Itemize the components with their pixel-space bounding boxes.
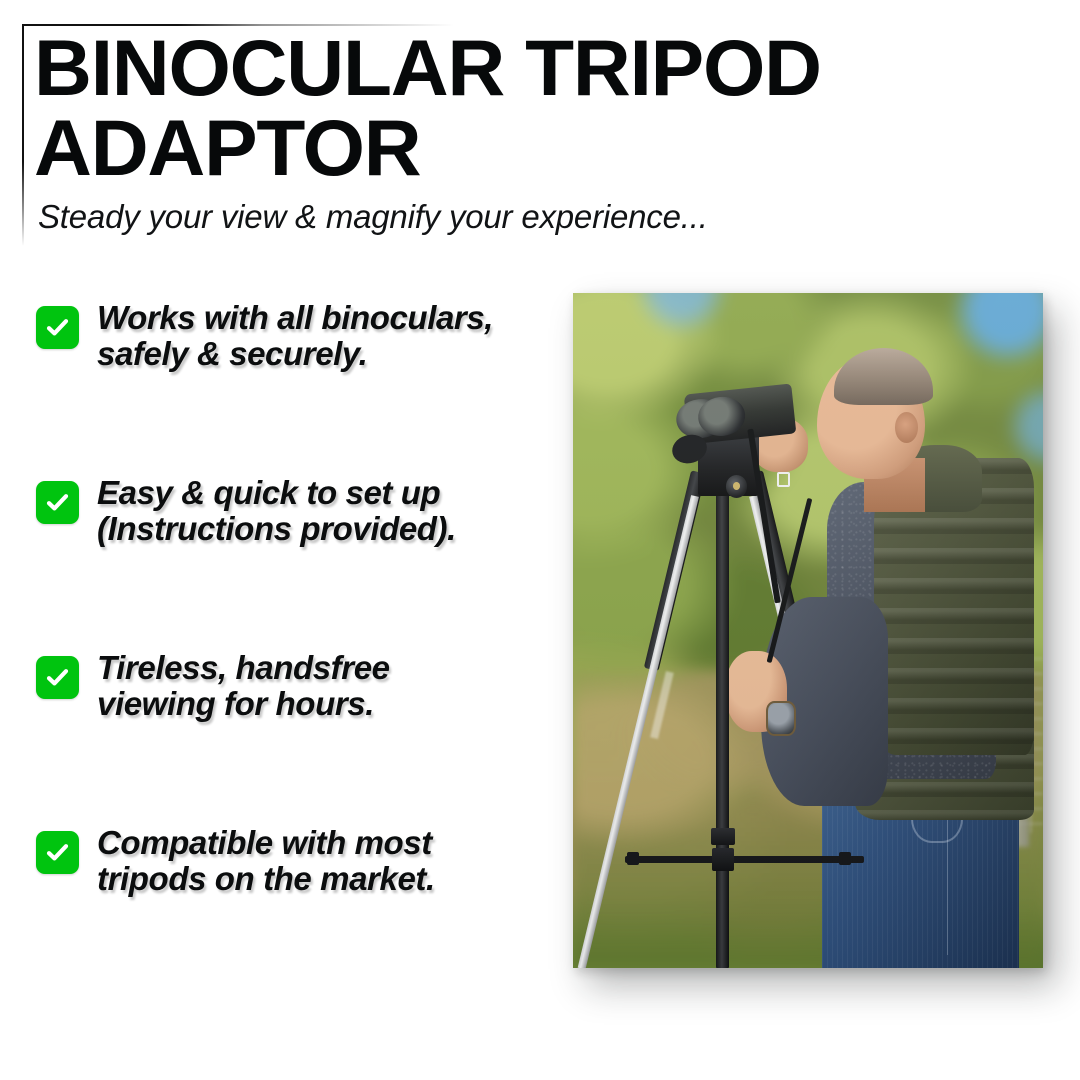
- person-ear: [895, 412, 919, 443]
- list-item: Tireless, handsfree viewing for hours.: [36, 650, 546, 825]
- page-title: BINOCULAR TRIPOD ADAPTOR: [34, 28, 934, 188]
- benefit-line-2: safely & securely.: [97, 336, 493, 372]
- tripod-center-column: [716, 475, 728, 968]
- list-item: Compatible with most tripods on the mark…: [36, 825, 546, 1000]
- tripod-collar-lower: [712, 848, 734, 871]
- list-item: Works with all binoculars, safely & secu…: [36, 300, 546, 475]
- page-subtitle: Steady your view & magnify your experien…: [38, 197, 708, 237]
- tripod-leg-clamp-right: [839, 852, 851, 866]
- benefit-line-1: Works with all binoculars,: [97, 299, 493, 336]
- benefit-line-2: viewing for hours.: [97, 686, 390, 722]
- tripod-spreader-bar: [625, 856, 865, 863]
- wristwatch: [766, 701, 796, 736]
- benefit-line-1: Tireless, handsfree: [97, 649, 390, 686]
- photo-canvas: [573, 293, 1043, 968]
- benefit-line-2: tripods on the market.: [97, 861, 435, 897]
- product-photo: [573, 293, 1043, 968]
- tripod-leg-clamp-left: [627, 852, 639, 866]
- benefit-text: Works with all binoculars, safely & secu…: [97, 300, 493, 372]
- binocular-strap-clip: [777, 472, 789, 487]
- product-infographic: BINOCULAR TRIPOD ADAPTOR Steady your vie…: [0, 0, 1080, 1080]
- check-icon: [36, 831, 79, 874]
- check-icon: [36, 306, 79, 349]
- list-item: Easy & quick to set up (Instructions pro…: [36, 475, 546, 650]
- benefit-list: Works with all binoculars, safely & secu…: [36, 300, 546, 1000]
- benefit-text: Tireless, handsfree viewing for hours.: [97, 650, 390, 722]
- tripod-collar-upper: [711, 828, 735, 846]
- title-line-2: ADAPTOR: [34, 108, 948, 188]
- title-line-1: BINOCULAR TRIPOD: [34, 28, 948, 108]
- benefit-text: Compatible with most tripods on the mark…: [97, 825, 435, 897]
- frame-left-line: [22, 24, 24, 246]
- check-icon: [36, 481, 79, 524]
- benefit-line-2: (Instructions provided).: [97, 511, 456, 547]
- benefit-text: Easy & quick to set up (Instructions pro…: [97, 475, 456, 547]
- check-icon: [36, 656, 79, 699]
- benefit-line-1: Easy & quick to set up: [97, 474, 440, 511]
- benefit-line-1: Compatible with most: [97, 824, 432, 861]
